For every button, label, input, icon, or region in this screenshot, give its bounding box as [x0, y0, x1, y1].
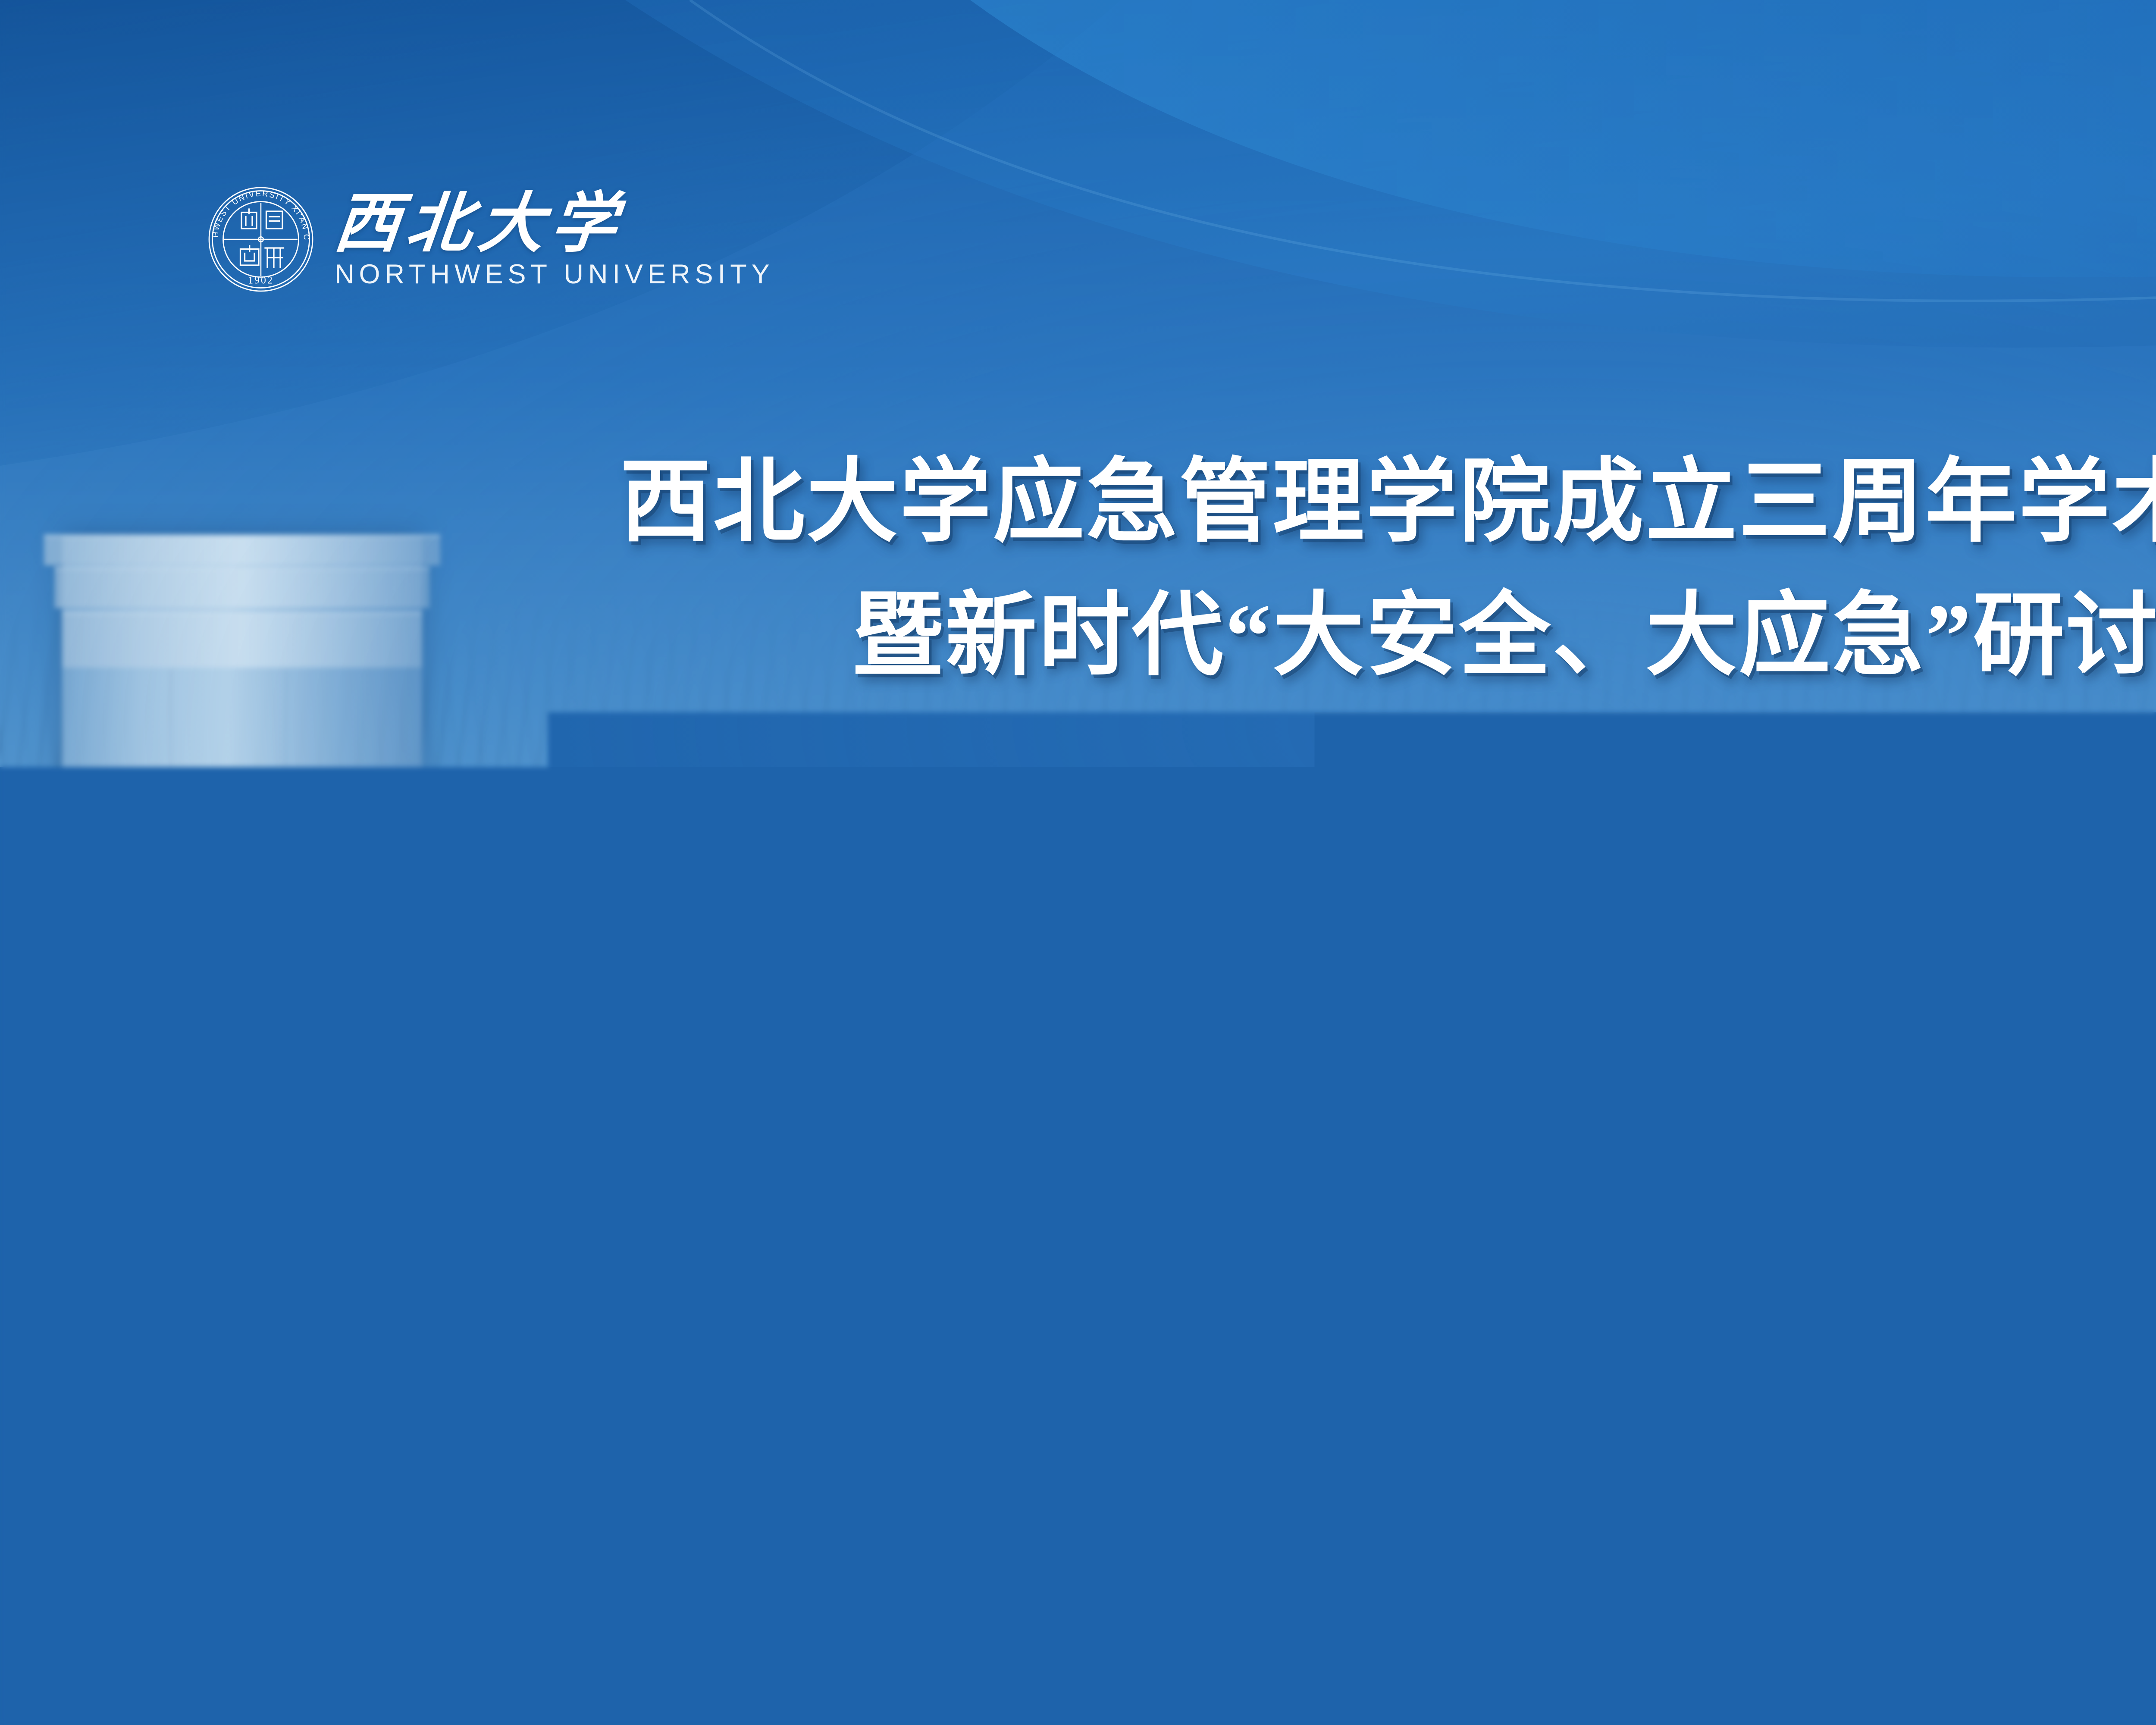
- wordmark-chinese: 西北大学: [331, 191, 778, 257]
- university-seal-icon: NORTHWEST UNIVERSITY XI'AN CHINA: [207, 185, 315, 293]
- svg-text:NORTHWEST UNIVERSITY XI'AN CHI: NORTHWEST UNIVERSITY XI'AN CHINA: [207, 185, 311, 241]
- poster-title: 西北大学应急管理学院成立三周年学术院庆会 暨新时代“大安全、大应急”研讨会: [0, 436, 2156, 703]
- detail-online-meeting-id: 线上腾讯会议号：860-508-330: [914, 1275, 1911, 1369]
- meeting-details: 会议时间：2023年6月9日8：30 线下会议地点：西北大学长安校区西学楼13层…: [914, 1087, 1911, 1463]
- title-line-1: 西北大学应急管理学院成立三周年学术院庆会: [0, 436, 2156, 569]
- seal-year: 1902: [248, 275, 274, 286]
- detail-meeting-password: 会议密码：230609: [914, 1369, 1911, 1463]
- university-wordmark: 西北大学 NORTHWEST UNIVERSITY: [335, 191, 774, 288]
- conference-poster: 西 北 大 学: [0, 0, 2156, 1725]
- detail-meeting-time: 会议时间：2023年6月9日8：30: [914, 1087, 1911, 1181]
- detail-offline-venue: 线下会议地点：西北大学长安校区西学楼13层会议室: [914, 1181, 1911, 1275]
- university-logo-lockup: NORTHWEST UNIVERSITY XI'AN CHINA: [207, 185, 774, 293]
- wordmark-english: NORTHWEST UNIVERSITY: [335, 261, 774, 288]
- seal-outer-text: NORTHWEST UNIVERSITY XI'AN CHINA: [207, 185, 311, 241]
- title-line-2: 暨新时代“大安全、大应急”研讨会: [0, 569, 2156, 703]
